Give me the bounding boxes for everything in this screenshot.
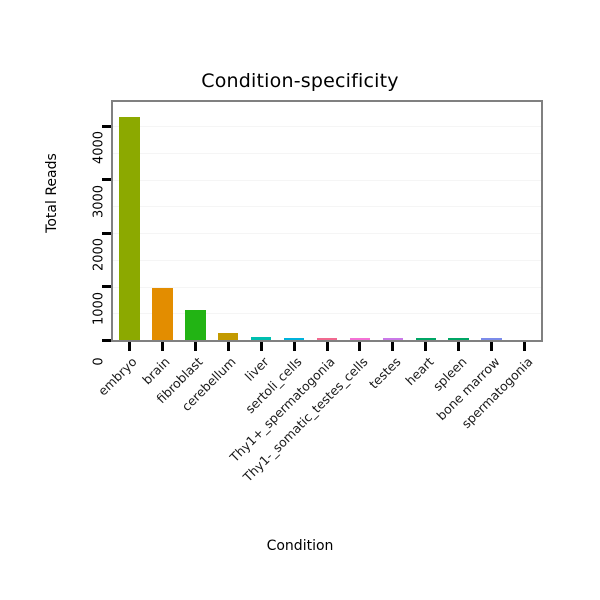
bar-liver — [251, 337, 271, 340]
y-tick-label-2000: 2000 — [92, 233, 107, 277]
bar-thy1-somatic-testes-cells — [350, 338, 370, 340]
bar-cerebellum — [218, 333, 238, 340]
bar-sertoli-cells — [284, 338, 304, 340]
bar-fibroblast — [185, 310, 205, 340]
bar-brain — [152, 288, 172, 340]
x-tick-mark-10 — [457, 342, 460, 351]
x-tick-mark-9 — [424, 342, 427, 351]
bar-testes — [383, 338, 403, 340]
x-axis-title: Condition — [0, 538, 600, 554]
x-tick-mark-4 — [260, 342, 263, 351]
y-axis-title: Total Reads — [44, 133, 60, 253]
x-tick-mark-2 — [194, 342, 197, 351]
chart-title: Condition-specificity — [0, 70, 600, 92]
plot-panel — [111, 100, 543, 342]
x-tick-mark-12 — [523, 342, 526, 351]
gridline-0 — [113, 340, 541, 341]
y-tick-label-4000: 4000 — [92, 126, 107, 170]
bar-thy1-spermatogonia — [317, 338, 337, 340]
y-tick-label-1000: 1000 — [92, 286, 107, 330]
chart-figure: Condition-specificity Total Reads 010002… — [0, 0, 600, 600]
x-tick-mark-5 — [293, 342, 296, 351]
bar-spleen — [448, 338, 468, 340]
bar-heart — [416, 338, 436, 340]
bar-bone-marrow — [481, 338, 501, 340]
x-tick-mark-8 — [391, 342, 394, 351]
y-tick-label-3000: 3000 — [92, 179, 107, 223]
x-tick-mark-6 — [326, 342, 329, 351]
bar-embryo — [119, 117, 139, 340]
x-tick-mark-7 — [358, 342, 361, 351]
x-tick-mark-0 — [128, 342, 131, 351]
bars-layer — [113, 102, 541, 340]
x-tick-mark-11 — [490, 342, 493, 351]
x-tick-mark-1 — [161, 342, 164, 351]
x-tick-mark-3 — [227, 342, 230, 351]
